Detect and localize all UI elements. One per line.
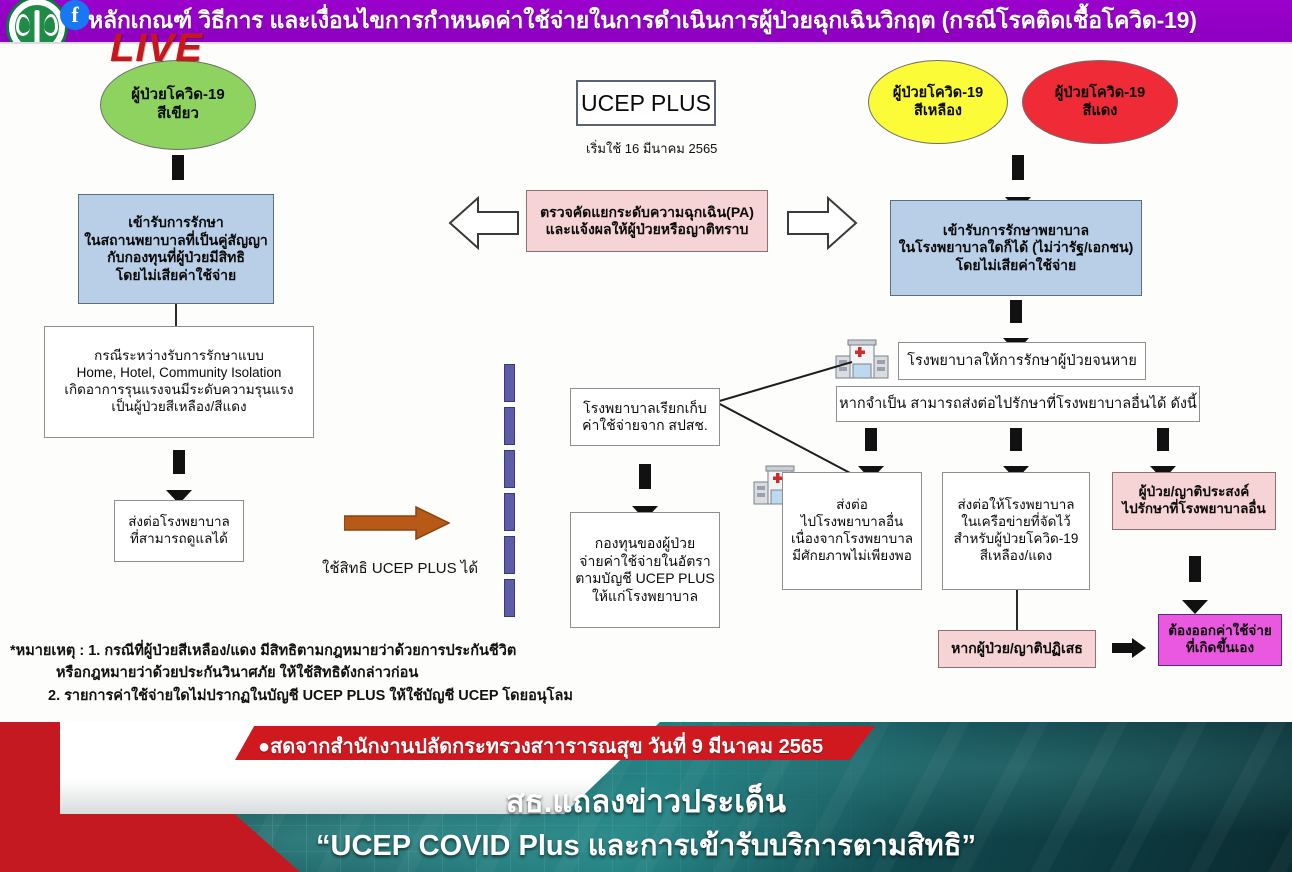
slide-canvas: f หลักเกณฑ์ วิธีการ และเงื่อนไขการกำหนดค… <box>0 0 1292 872</box>
hospital-bill-line1: โรงพยาบาลเรียกเก็บ <box>583 400 707 418</box>
refer-other-line4: มีศักยภาพไม่เพียงพอ <box>792 548 912 565</box>
right-treatment-line3: โดยไม่เสียค่าใช้จ่าย <box>956 257 1076 275</box>
red-patient-line2: สีแดง <box>1083 102 1118 120</box>
live-source-text: ●สดจากสำนักงานปลัดกระทรวงสาารารณสุข วันท… <box>258 730 823 762</box>
patient-wish-line1: ผู้ป่วย/ญาติประสงค์ <box>1139 484 1250 501</box>
footnote-line-1: *หมายเหตุ : 1. กรณีที่ผู้ป่วยสีเหลือง/แด… <box>10 640 650 662</box>
node-refer-network: ส่งต่อให้โรงพยาบาล ในเครือข่ายที่จัดไว้ … <box>942 472 1090 590</box>
refer-network-line1: ส่งต่อให้โรงพยาบาล <box>957 497 1074 514</box>
arrow-wish-to-selfpay-icon <box>1182 556 1208 600</box>
banner-subheadline: “UCEP COVID Plus และการเข้ารับบริการตามส… <box>0 822 1292 868</box>
red-patient-line1: ผู้ป่วยโควิด-19 <box>1055 84 1145 102</box>
refer-hospital-line2: ที่สามารถดูแลได้ <box>130 531 228 548</box>
node-red-patient: ผู้ป่วยโควิด-19 สีแดง <box>1022 60 1178 144</box>
arrow-green-to-treatment-icon <box>165 155 191 197</box>
ministry-of-public-health-logo-icon <box>6 0 68 44</box>
fund-pays-line4: ให้แก่โรงพยาบาล <box>592 588 698 606</box>
banner-headline: สธ.แถลงข่าวประเด็น <box>0 776 1292 826</box>
connector-left-1 <box>175 304 177 326</box>
self-pay-line2: ที่เกิดขึ้นเอง <box>1186 640 1254 657</box>
center-label-ucep-plus: ใช้สิทธิ UCEP PLUS ได้ <box>322 556 478 580</box>
arrow-refuse-to-selfpay-icon <box>1112 638 1146 658</box>
node-patient-wish: ผู้ป่วย/ญาติประสงค์ ไปรักษาที่โรงพยาบาลอ… <box>1112 472 1276 530</box>
right-treatment-line1: เข้ารับการรักษาพยาบาล <box>943 222 1089 240</box>
footnote-line-2: หรือกฎหมายว่าด้วยประกันวินาศภัย ให้ใช้สิ… <box>10 662 650 684</box>
hollow-left-arrow-icon <box>448 196 520 250</box>
node-refer-hospital: ส่งต่อโรงพยาบาล ที่สามารถดูแลได้ <box>114 500 244 562</box>
home-isolation-line4: เป็นผู้ป่วยสีเหลือง/สีแดง <box>111 399 246 416</box>
node-green-patient: ผู้ป่วยโควิด-19 สีเขียว <box>100 60 256 150</box>
hospital-bill-line2: ค่าใช้จ่ายจาก สปสช. <box>582 417 708 435</box>
node-right-treatment: เข้ารับการรักษาพยาบาล ในโรงพยาบาลใดก็ได้… <box>890 200 1142 296</box>
node-hospital-treat: โรงพยาบาลให้การรักษาผู้ป่วยจนหาย <box>898 342 1146 380</box>
triage-line1: ตรวจคัดแยกระดับความฉุกเฉิน(PA) <box>540 204 754 222</box>
green-patient-line1: ผู้ป่วยโควิด-19 <box>131 86 224 105</box>
vertical-dashed-divider-icon <box>504 364 515 622</box>
refer-other-line2: ไปโรงพยาบาลอื่น <box>801 514 904 531</box>
refer-other-line3: เนื่องจากโรงพยาบาล <box>791 531 913 548</box>
arrow-treatment-to-hospital-icon <box>1003 300 1029 338</box>
footnotes: *หมายเหตุ : 1. กรณีที่ผู้ป่วยสีเหลือง/แด… <box>10 640 650 707</box>
arrow-to-refer-other-icon <box>858 428 884 466</box>
refer-network-line3: สำหรับผู้ป่วยโควิด-19 <box>954 531 1079 548</box>
footnote-line-3: 2. รายการค่าใช้จ่ายใดไม่ปรากฏในบัญชี UCE… <box>10 685 650 707</box>
triage-line2: และแจ้งผลให้ผู้ป่วยหรือญาติทราบ <box>546 221 749 239</box>
home-isolation-line2: Home, Hotel, Community Isolation <box>77 365 282 382</box>
refer-network-line4: สีเหลือง/แดง <box>980 548 1053 565</box>
refer-other-line1: ส่งต่อ <box>836 497 868 514</box>
facebook-badge-icon: f <box>60 0 90 30</box>
ucep-plus-start-date: เริ่มใช้ 16 มีนาคม 2565 <box>586 138 717 159</box>
node-home-isolation: กรณีระหว่างรับการรักษาแบบ Home, Hotel, C… <box>44 326 314 438</box>
arrow-to-refer-network-icon <box>1003 428 1029 466</box>
home-isolation-line1: กรณีระหว่างรับการรักษาแบบ <box>94 348 264 365</box>
arrow-isolation-to-refer-icon <box>166 450 192 490</box>
fund-pays-line3: ตามบัญชี UCEP PLUS <box>575 570 715 588</box>
orange-right-arrow-icon <box>344 505 450 546</box>
left-treatment-line3: กับกองทุนที่ผู้ป่วยมีสิทธิ <box>107 249 245 267</box>
home-isolation-line3: เกิดอาการรุนแรงจนมีระดับความรุนแรง <box>64 382 293 399</box>
hospital-treat-line1: โรงพยาบาลให้การรักษาผู้ป่วยจนหาย <box>907 352 1137 370</box>
node-fund-pays: กองทุนของผู้ป่วย จ่ายค่าใช้จ่ายในอัตรา ต… <box>570 512 720 628</box>
connector-network-to-refuse <box>1016 590 1018 632</box>
node-left-treatment: เข้ารับการรักษา ในสถานพยาบาลที่เป็นคู่สั… <box>78 194 274 304</box>
fund-pays-line2: จ่ายค่าใช้จ่ายในอัตรา <box>579 553 710 571</box>
node-yellow-patient: ผู้ป่วยโควิด-19 สีเหลือง <box>868 60 1008 144</box>
left-treatment-line4: โดยไม่เสียค่าใช้จ่าย <box>116 267 236 285</box>
patient-wish-line2: ไปรักษาที่โรงพยาบาลอื่น <box>1122 501 1265 518</box>
hollow-right-arrow-icon <box>786 196 858 250</box>
left-treatment-line2: ในสถานพยาบาลที่เป็นคู่สัญญา <box>84 232 268 250</box>
refer-hospital-line1: ส่งต่อโรงพยาบาล <box>128 514 230 531</box>
left-treatment-line1: เข้ารับการรักษา <box>128 214 224 232</box>
fund-pays-line1: กองทุนของผู้ป่วย <box>595 535 696 553</box>
live-label: LIVE <box>110 26 203 71</box>
node-hospital-bill: โรงพยาบาลเรียกเก็บ ค่าใช้จ่ายจาก สปสช. <box>570 388 720 446</box>
arrow-bill-to-fund-icon <box>632 464 658 506</box>
node-if-needed: หากจำเป็น สามารถส่งต่อไปรักษาที่โรงพยาบา… <box>836 386 1200 422</box>
node-patient-refuse: หากผู้ป่วย/ญาติปฏิเสธ <box>938 630 1096 668</box>
self-pay-line1: ต้องออกค่าใช้จ่าย <box>1168 623 1272 640</box>
refer-network-line2: ในเครือข่ายที่จัดไว้ <box>961 514 1071 531</box>
node-triage: ตรวจคัดแยกระดับความฉุกเฉิน(PA) และแจ้งผล… <box>526 190 768 252</box>
right-treatment-line2: ในโรงพยาบาลใดก็ได้ (ไม่ว่ารัฐ/เอกชน) <box>899 239 1134 257</box>
patient-refuse-line1: หากผู้ป่วย/ญาติปฏิเสธ <box>951 640 1083 658</box>
yellow-patient-line2: สีเหลือง <box>914 102 962 120</box>
page-title: หลักเกณฑ์ วิธีการ และเงื่อนไขการกำหนดค่า… <box>88 3 1288 39</box>
ucep-plus-label: UCEP PLUS <box>581 89 711 118</box>
green-patient-line2: สีเขียว <box>157 105 199 124</box>
node-self-pay: ต้องออกค่าใช้จ่าย ที่เกิดขึ้นเอง <box>1158 614 1282 666</box>
node-ucep-plus-title: UCEP PLUS <box>576 80 716 126</box>
if-needed-line1: หากจำเป็น สามารถส่งต่อไปรักษาที่โรงพยาบา… <box>839 395 1197 413</box>
node-refer-other: ส่งต่อ ไปโรงพยาบาลอื่น เนื่องจากโรงพยาบา… <box>782 472 922 590</box>
arrow-patients-to-treatment-icon <box>1005 155 1031 197</box>
yellow-patient-line1: ผู้ป่วยโควิด-19 <box>893 84 983 102</box>
arrow-to-patient-wish-icon <box>1150 428 1176 466</box>
